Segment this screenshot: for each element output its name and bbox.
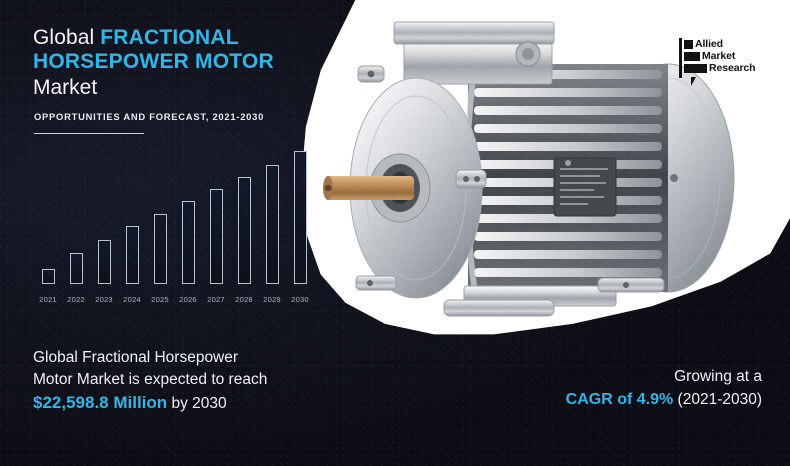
cagr-period: (2021-2030) xyxy=(678,391,762,408)
statement-suffix: by 2030 xyxy=(172,395,227,412)
allied-market-research-logo: Allied Market Research xyxy=(681,39,755,74)
bar-column xyxy=(34,148,62,284)
x-tick-2027: 2027 xyxy=(202,295,230,304)
logo-pointer-icon xyxy=(691,77,696,86)
statement-line-3: $22,598.8 Million by 2030 xyxy=(33,391,333,415)
bar-column xyxy=(90,148,118,284)
title-prefix: Global xyxy=(33,26,94,49)
bar-column xyxy=(146,148,174,284)
bar-2029 xyxy=(266,165,279,284)
statement-line-2: Motor Market is expected to reach xyxy=(33,369,333,391)
bar-column xyxy=(286,148,314,284)
bar-column xyxy=(174,148,202,284)
cagr-block: Growing at a CAGR of 4.9% (2021-2030) xyxy=(566,366,762,412)
cagr-value: CAGR of 4.9% xyxy=(566,391,674,408)
x-tick-2029: 2029 xyxy=(258,295,286,304)
title-suffix: Market xyxy=(33,76,293,100)
logo-left-bar xyxy=(679,38,682,78)
bar-column xyxy=(202,148,230,284)
logo-row-research: Research xyxy=(684,63,755,74)
bar-chart: 2021202220232024202520262027202820292030 xyxy=(34,148,314,308)
statement-line-1: Global Fractional Horsepower xyxy=(33,347,333,369)
bar-2027 xyxy=(210,189,223,285)
logo-row-market: Market xyxy=(684,51,755,62)
x-tick-2030: 2030 xyxy=(286,295,314,304)
x-tick-2028: 2028 xyxy=(230,295,258,304)
bar-chart-x-axis-labels: 2021202220232024202520262027202820292030 xyxy=(34,295,314,304)
bar-column xyxy=(118,148,146,284)
bar-2028 xyxy=(238,177,251,284)
infographic-root: Allied Market Research Global FRACTIONAL… xyxy=(0,0,790,466)
x-tick-2023: 2023 xyxy=(90,295,118,304)
title-divider xyxy=(34,133,144,134)
bar-2025 xyxy=(154,214,167,284)
bar-column xyxy=(258,148,286,284)
logo-text-market: Market xyxy=(702,52,735,61)
statement-value: $22,598.8 Million xyxy=(33,393,167,412)
x-tick-2022: 2022 xyxy=(62,295,90,304)
bar-column xyxy=(230,148,258,284)
x-tick-2025: 2025 xyxy=(146,295,174,304)
logo-square-icon xyxy=(684,64,707,73)
x-tick-2021: 2021 xyxy=(34,295,62,304)
bar-2023 xyxy=(98,240,111,284)
bar-chart-bars xyxy=(34,148,314,284)
bar-2021 xyxy=(42,269,55,284)
logo-square-icon xyxy=(684,52,700,61)
logo-text-research: Research xyxy=(709,64,755,73)
cagr-line-1: Growing at a xyxy=(566,366,762,388)
logo-row-allied: Allied xyxy=(684,39,755,50)
title-highlight-line2: HORSEPOWER MOTOR xyxy=(33,50,274,73)
page-title: Global FRACTIONAL HORSEPOWER MOTOR Marke… xyxy=(33,26,293,100)
bar-2022 xyxy=(70,253,83,285)
x-tick-2026: 2026 xyxy=(174,295,202,304)
subtitle: OPPORTUNITIES AND FORECAST, 2021-2030 xyxy=(34,111,264,122)
logo-text-allied: Allied xyxy=(695,40,723,49)
title-highlight-line1: FRACTIONAL xyxy=(100,26,238,49)
bar-2030 xyxy=(294,151,307,284)
logo-square-icon xyxy=(684,40,693,49)
bar-2024 xyxy=(126,226,139,284)
cagr-line-2: CAGR of 4.9% (2021-2030) xyxy=(566,388,762,411)
bar-2026 xyxy=(182,201,195,284)
market-statement: Global Fractional Horsepower Motor Marke… xyxy=(33,347,333,415)
x-tick-2024: 2024 xyxy=(118,295,146,304)
bar-column xyxy=(62,148,90,284)
